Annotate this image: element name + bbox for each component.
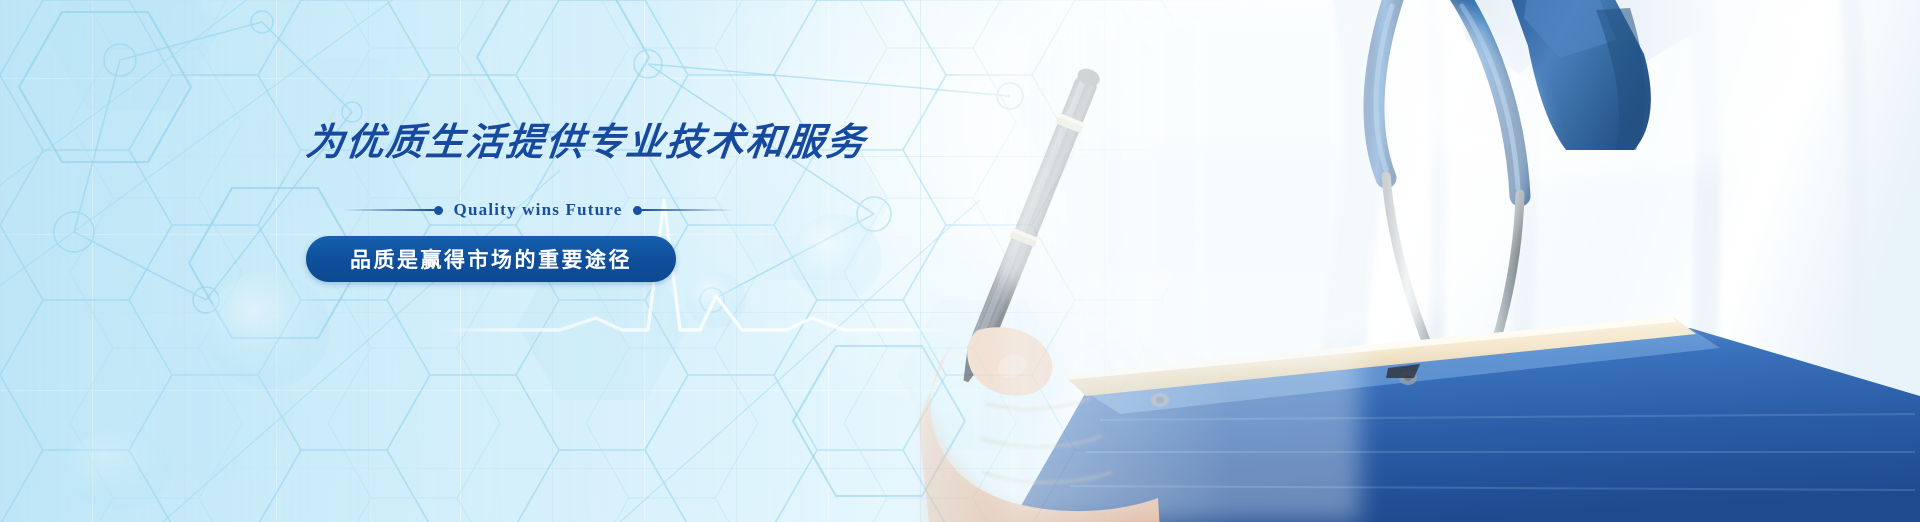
tagline-rule-right [642, 209, 734, 211]
hero-banner: 为优质生活提供专业技术和服务 Quality wins Future 品质是赢得… [0, 0, 1920, 522]
tagline-row: Quality wins Future [342, 200, 734, 220]
tagline-rule-left [342, 209, 434, 211]
tagline-dot-right-icon [633, 206, 642, 215]
tagline-english: Quality wins Future [443, 200, 634, 220]
page-title: 为优质生活提供专业技术和服务 [304, 124, 1008, 162]
hero-copy: 为优质生活提供专业技术和服务 Quality wins Future 品质是赢得… [306, 124, 1006, 282]
slogan-pill-label: 品质是赢得市场的重要途径 [350, 244, 632, 274]
slogan-pill-button[interactable]: 品质是赢得市场的重要途径 [306, 236, 676, 282]
tagline-dot-left-icon [434, 206, 443, 215]
